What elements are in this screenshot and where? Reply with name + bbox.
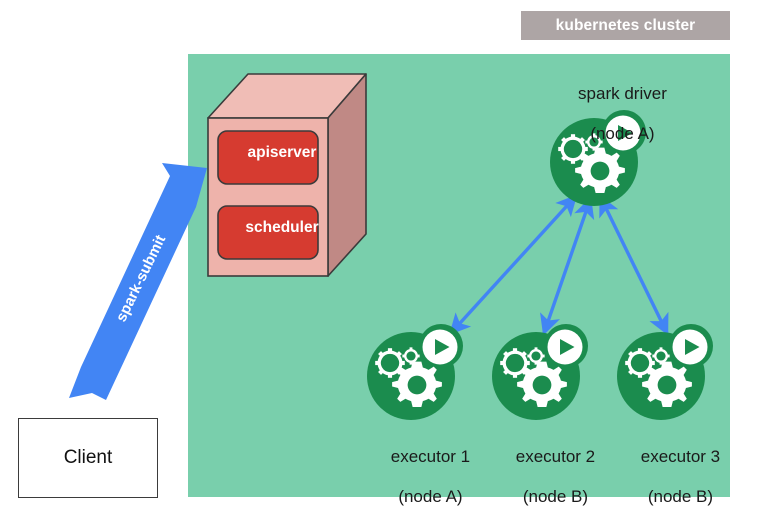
apiserver-label: apiserver: [222, 144, 342, 162]
diagram-canvas: kubernetes cluster Client: [0, 0, 761, 516]
connector-driver-executor-1: [451, 197, 575, 333]
control-plane-cube: [208, 74, 366, 276]
spark-driver-node[interactable]: [550, 110, 646, 206]
connector-driver-executor-3: [601, 198, 667, 333]
driver-executor-connectors: [451, 197, 667, 333]
executor-1-node[interactable]: [367, 324, 463, 420]
diagram-vector-layer: [0, 0, 761, 516]
spark-submit-arrow: [69, 163, 207, 400]
executor-3-node[interactable]: [617, 324, 713, 420]
executor-2-node[interactable]: [492, 324, 588, 420]
scheduler-label: scheduler: [222, 219, 342, 237]
connector-driver-executor-2: [544, 200, 590, 333]
